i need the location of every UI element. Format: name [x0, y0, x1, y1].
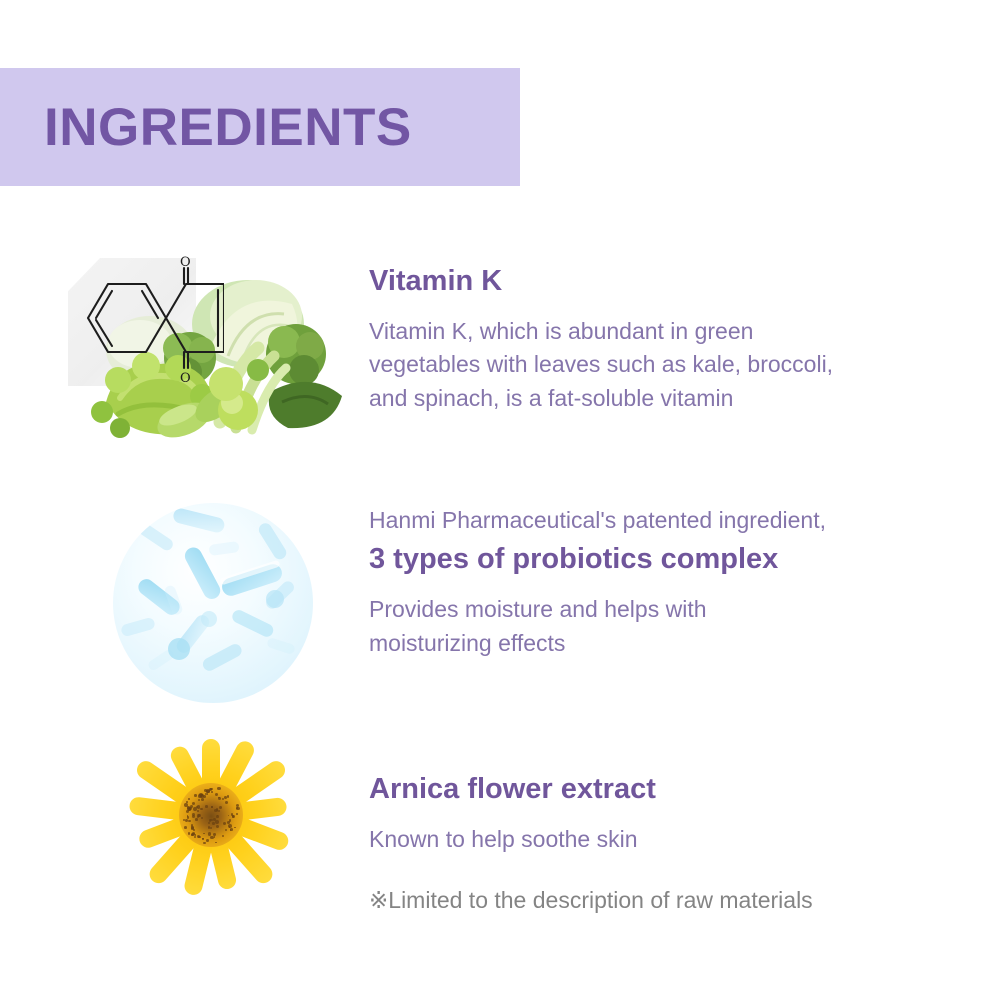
disk-speck: [188, 820, 190, 822]
disk-speck: [212, 822, 214, 824]
disk-speck: [230, 828, 233, 831]
disk-speck: [200, 808, 202, 810]
section-heading: Arnica flower extract: [369, 770, 969, 809]
disk-speck: [203, 795, 206, 798]
disk-speck: [191, 833, 194, 836]
disk-speck: [188, 832, 190, 834]
disk-speck: [225, 801, 228, 804]
disk-speck: [225, 829, 227, 831]
arnica-text-block: Arnica flower extract Known to help soot…: [369, 770, 969, 917]
body-line: vegetables with leaves such as kale, bro…: [369, 348, 969, 381]
section-body: Known to help soothe skin: [369, 823, 969, 856]
section-body: Provides moisture and helps with moistur…: [369, 593, 969, 660]
ingredients-banner: INGREDIENTS: [0, 68, 520, 186]
body-line: and spinach, is a fat-soluble vitamin: [369, 382, 969, 415]
disk-speck: [216, 825, 219, 828]
disk-speck: [219, 806, 222, 809]
disk-speck: [236, 813, 238, 815]
disk-speck: [203, 842, 205, 844]
disk-speck: [205, 805, 208, 808]
probiotics-image: [113, 503, 313, 703]
disk-speck: [201, 798, 204, 801]
disk-speck: [234, 827, 236, 829]
disk-speck: [223, 822, 227, 826]
disk-speck: [208, 822, 210, 824]
disk-speck: [195, 818, 198, 821]
flower-center-disk: [179, 783, 243, 847]
disk-speck: [206, 839, 209, 842]
disk-speck: [184, 803, 188, 807]
disk-speck: [214, 809, 217, 812]
disk-speck: [215, 842, 217, 844]
vitamin-k-text-block: Vitamin K Vitamin K, which is abundant i…: [369, 262, 969, 415]
disk-speck: [197, 810, 199, 812]
disk-speck: [224, 796, 227, 799]
svg-text:O: O: [180, 256, 191, 270]
disk-speck: [194, 794, 196, 796]
disk-speck: [228, 815, 230, 817]
disk-speck: [208, 832, 211, 835]
disk-speck: [207, 793, 209, 795]
page-title: INGREDIENTS: [44, 101, 412, 154]
disk-speck: [218, 810, 220, 812]
disk-speck: [186, 801, 188, 803]
section-body: Vitamin K, which is abundant in green ve…: [369, 315, 969, 415]
probiotics-text-block: Hanmi Pharmaceutical's patented ingredie…: [369, 505, 969, 660]
disk-speck: [228, 824, 232, 828]
disk-speck: [201, 817, 203, 819]
raw-materials-note: ※Limited to the description of raw mater…: [369, 884, 969, 916]
disk-speck: [186, 810, 189, 813]
disk-speck: [210, 836, 213, 839]
disk-speck: [185, 819, 189, 823]
body-line: Vitamin K, which is abundant in green: [369, 315, 969, 348]
disk-speck: [197, 835, 200, 838]
disk-speck: [232, 815, 236, 819]
bacteria-illustration: [113, 503, 313, 703]
body-line: moisturizing effects: [369, 627, 969, 660]
disk-speck: [227, 795, 230, 798]
disk-speck: [236, 804, 239, 807]
disk-speck: [184, 826, 187, 829]
body-line: Provides moisture and helps with: [369, 593, 969, 626]
green-vegetables-image: O O: [60, 252, 350, 457]
vitamin-k-molecule-icon: O O: [74, 256, 224, 386]
disk-speck: [206, 790, 210, 794]
disk-speck: [214, 836, 216, 838]
disk-speck: [194, 836, 197, 839]
arnica-flower-image: [112, 731, 310, 899]
disk-speck: [198, 799, 200, 801]
disk-speck: [222, 835, 225, 838]
disk-speck: [188, 798, 190, 800]
disk-speck: [202, 838, 204, 840]
disk-speck: [191, 827, 194, 830]
disk-speck: [211, 791, 213, 793]
disk-speck: [215, 820, 219, 824]
section-heading: Vitamin K: [369, 262, 969, 301]
disk-speck: [192, 802, 195, 805]
section-heading: 3 types of probiotics complex: [369, 540, 969, 579]
svg-text:O: O: [180, 371, 191, 386]
section-eyebrow: Hanmi Pharmaceutical's patented ingredie…: [369, 505, 969, 536]
disk-speck: [236, 807, 240, 811]
disk-speck: [215, 793, 218, 796]
body-line: Known to help soothe skin: [369, 823, 969, 856]
disk-speck: [216, 815, 219, 818]
disk-speck: [203, 833, 205, 835]
disk-speck: [217, 787, 221, 791]
